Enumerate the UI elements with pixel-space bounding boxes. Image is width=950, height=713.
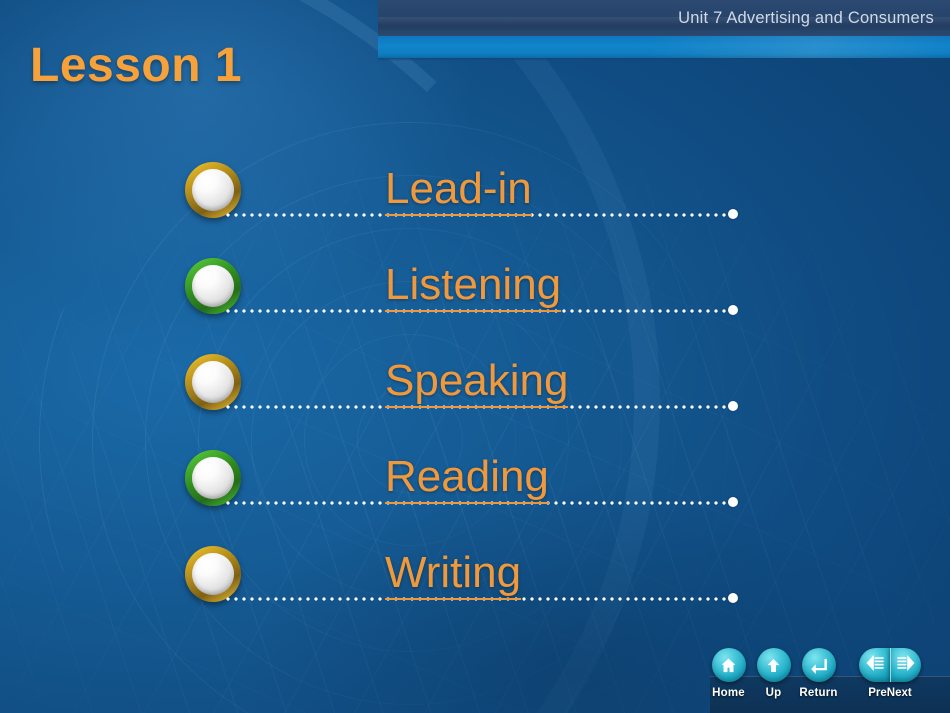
- bottom-navigation-bar: Home Up Return: [706, 648, 950, 713]
- presentation-slide: Unit 7 Advertising and Consumers Lesson …: [0, 0, 950, 713]
- return-arrow-icon: [802, 648, 836, 682]
- nav-label-previous: Pre: [868, 687, 887, 699]
- nav-label-home: Home: [712, 687, 745, 699]
- menu-link-label: Reading: [385, 452, 549, 504]
- menu-row-writing: Writing: [0, 544, 950, 640]
- leader-end-dot: [728, 497, 738, 507]
- header-accent-strip: [378, 36, 950, 58]
- nav-label-return: Return: [799, 687, 837, 699]
- menu-link-listening[interactable]: Listening: [385, 260, 561, 312]
- nav-button-next[interactable]: [890, 648, 921, 682]
- green-sphere-bullet: [185, 450, 241, 506]
- nav-button-previous[interactable]: [859, 648, 890, 682]
- menu-link-speaking[interactable]: Speaking: [385, 356, 568, 408]
- prev-next-orbs: [859, 648, 921, 682]
- menu-link-reading[interactable]: Reading: [385, 452, 549, 504]
- next-chevron-icon: [896, 654, 916, 677]
- leader-end-dot: [728, 593, 738, 603]
- menu-link-label: Writing: [385, 548, 521, 600]
- nav-label-up: Up: [766, 687, 782, 699]
- menu-row-reading: Reading: [0, 448, 950, 544]
- menu-link-lead-in[interactable]: Lead-in: [385, 164, 532, 216]
- page-title: Lesson 1: [30, 38, 242, 93]
- gold-sphere-bullet: [185, 546, 241, 602]
- home-icon: [712, 648, 746, 682]
- leader-end-dot: [728, 305, 738, 315]
- up-arrow-icon: [757, 648, 791, 682]
- header-band: Unit 7 Advertising and Consumers: [378, 0, 950, 36]
- header-edge-shadow: [378, 58, 950, 61]
- nav-button-return[interactable]: Return: [796, 648, 841, 713]
- nav-button-up[interactable]: Up: [751, 648, 796, 713]
- lesson-menu-list: Lead-in Listening Speaking Reading Writi…: [0, 160, 950, 640]
- green-sphere-bullet: [185, 258, 241, 314]
- prev-next-control: Pre Next: [857, 648, 923, 713]
- gold-sphere-bullet: [185, 354, 241, 410]
- nav-label-next: Next: [887, 687, 912, 699]
- leader-end-dot: [728, 209, 738, 219]
- menu-row-lead-in: Lead-in: [0, 160, 950, 256]
- menu-row-listening: Listening: [0, 256, 950, 352]
- unit-title: Unit 7 Advertising and Consumers: [678, 9, 950, 28]
- leader-end-dot: [728, 401, 738, 411]
- menu-link-writing[interactable]: Writing: [385, 548, 521, 600]
- menu-link-label: Lead-in: [385, 164, 532, 216]
- previous-chevron-icon: [865, 654, 885, 677]
- gold-sphere-bullet: [185, 162, 241, 218]
- prev-next-labels: Pre Next: [857, 687, 923, 699]
- menu-link-label: Listening: [385, 260, 561, 312]
- nav-button-home[interactable]: Home: [706, 648, 751, 713]
- menu-link-label: Speaking: [385, 356, 568, 408]
- menu-row-speaking: Speaking: [0, 352, 950, 448]
